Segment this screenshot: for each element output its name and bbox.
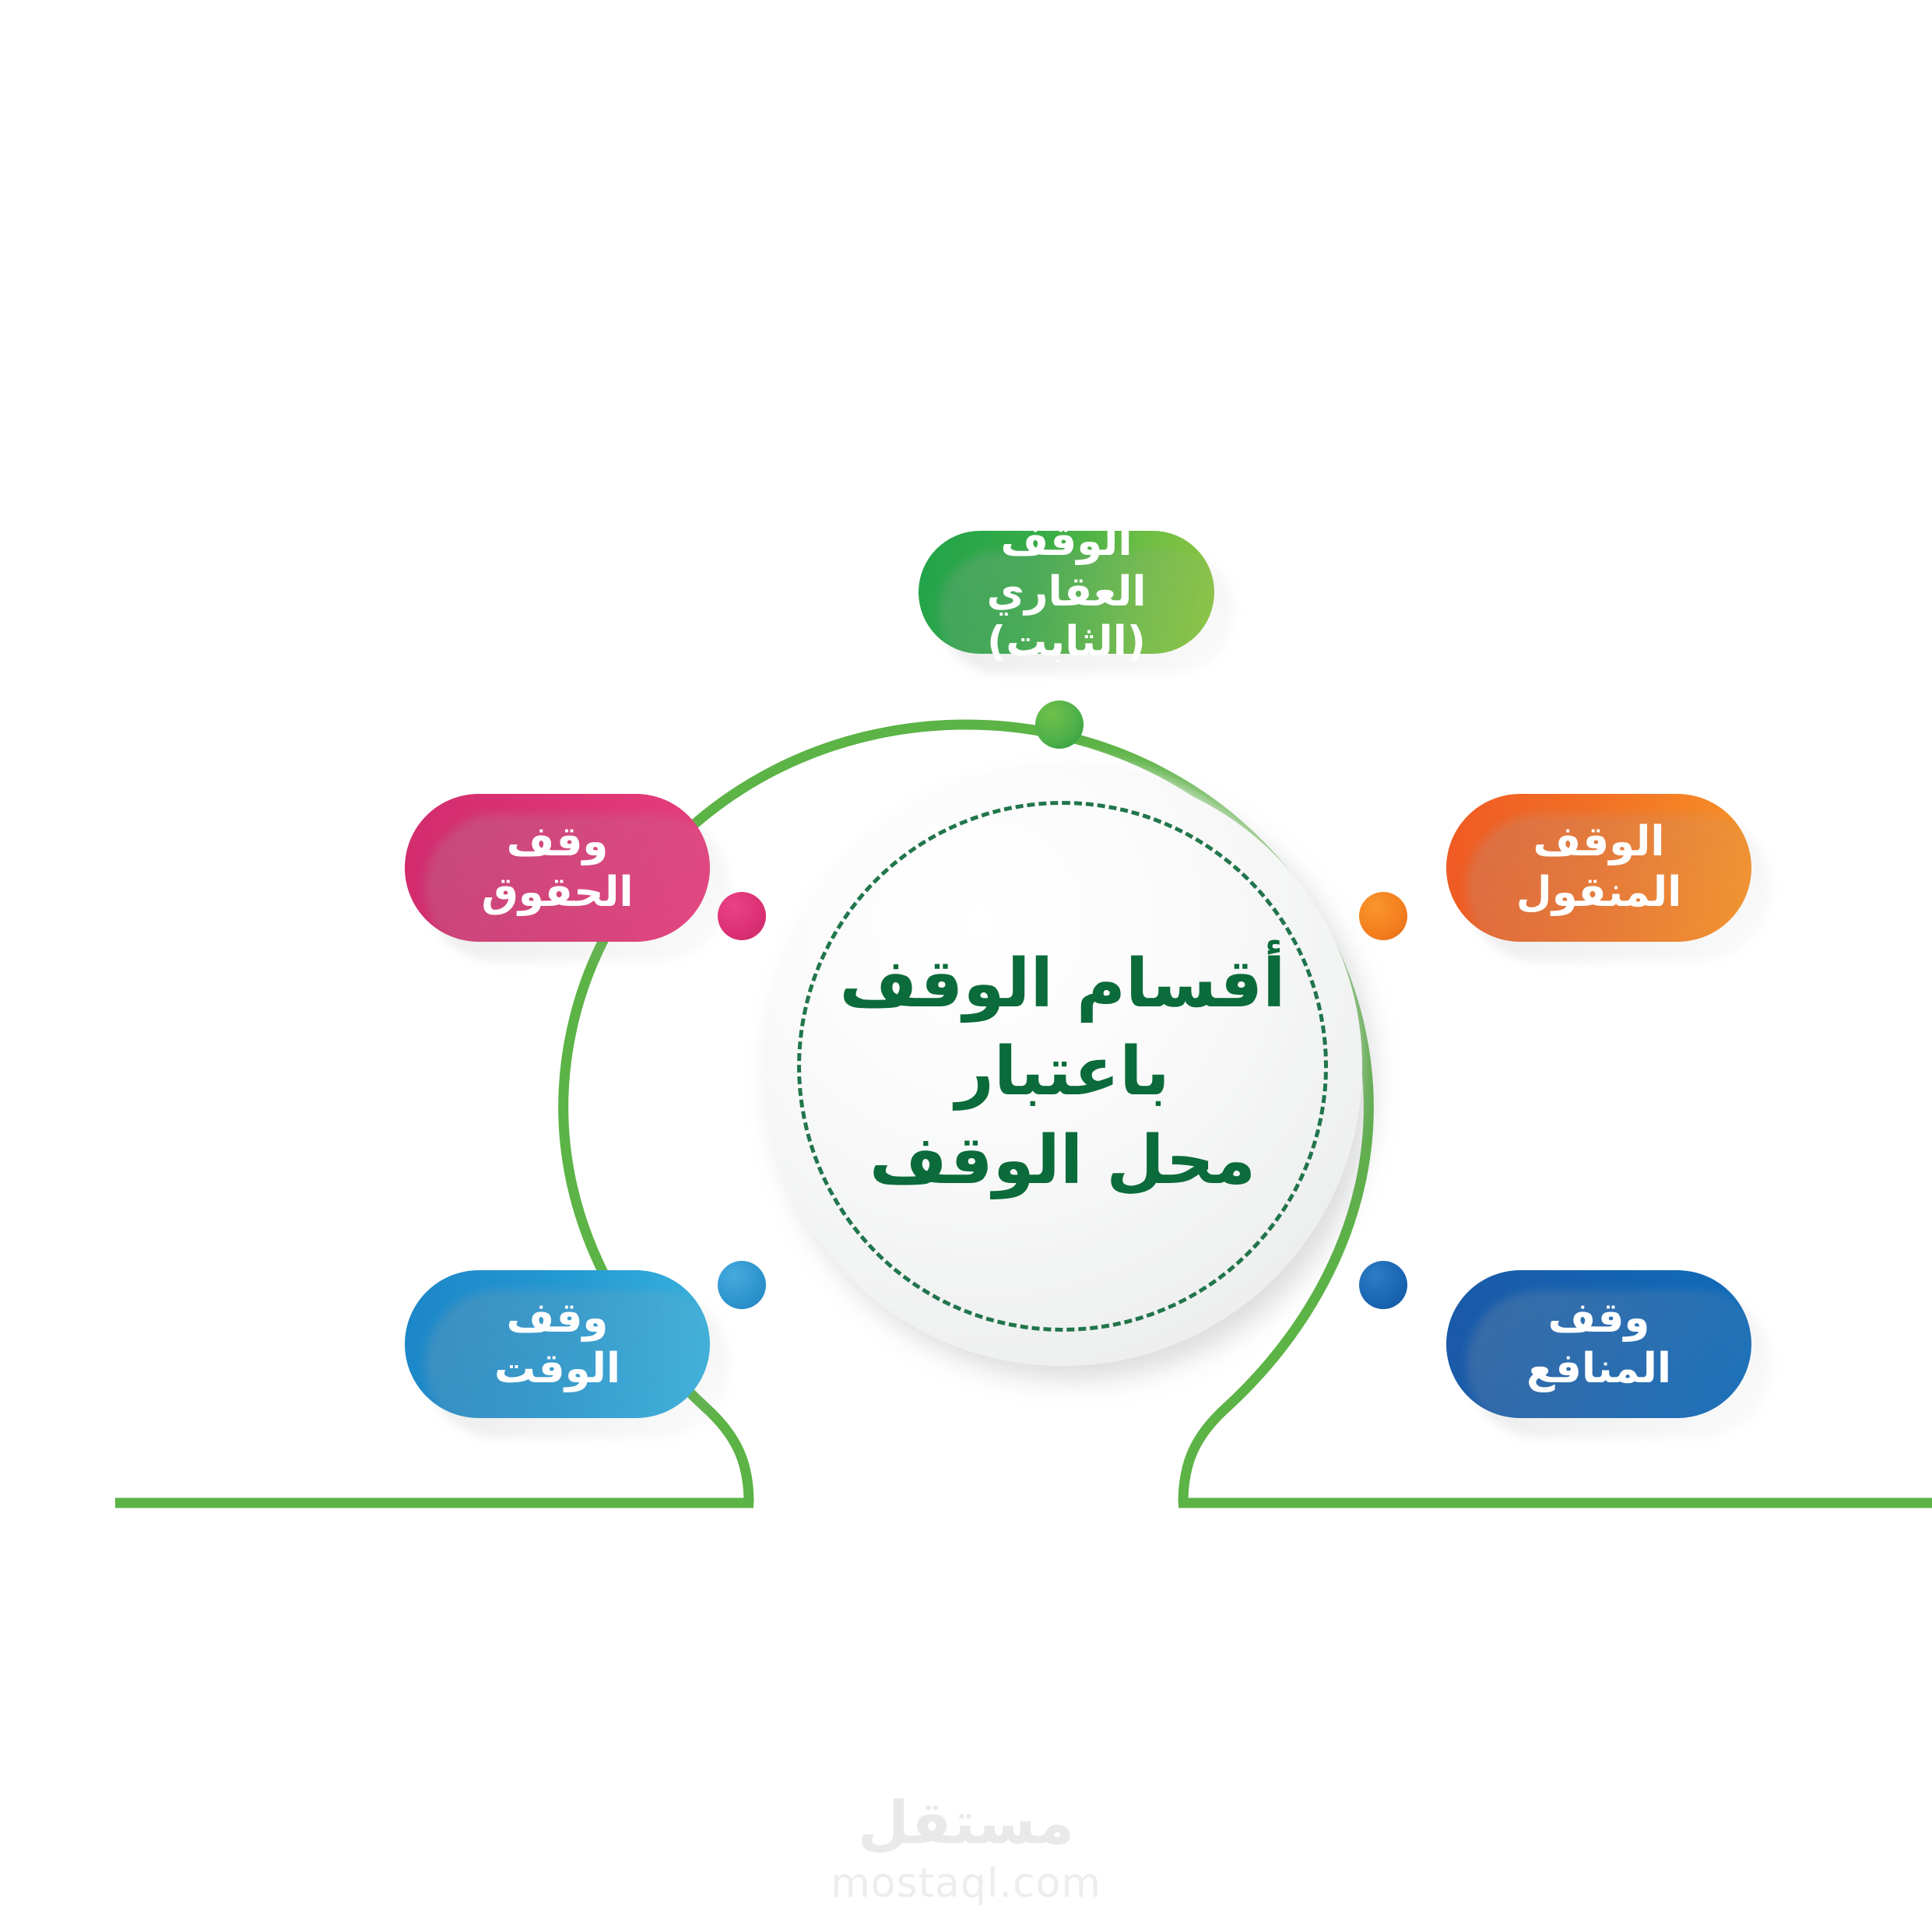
pill-label-line-2: الحقوق (481, 869, 633, 916)
infographic-canvas: أقسام الوقف باعتبار محل الوقف الوقف العق… (0, 0, 1932, 1931)
center-title-line-1: أقسام الوقف (840, 940, 1286, 1029)
category-pill-waqf-real-estate[interactable]: الوقف العقاري (الثابت) (919, 531, 1214, 654)
pill-label-line-2: (الثابت) (987, 618, 1146, 665)
connector-dot-waqf-real-estate (1035, 700, 1084, 749)
pill-label-line-1: وقف (507, 1294, 609, 1342)
pill-label-waqf-benefits: وقف المنافع (1526, 1294, 1671, 1394)
pill-label-line-1: وقف (1548, 1294, 1650, 1342)
watermark: مستقل mostaql.com (0, 1790, 1932, 1907)
pill-label-waqf-movable: الوقف المنقول (1516, 817, 1682, 918)
category-pill-waqf-benefits[interactable]: وقف المنافع (1446, 1270, 1751, 1418)
center-title-line-3: محل الوقف (869, 1117, 1256, 1206)
pill-label-line-2: المنقول (1516, 869, 1682, 916)
center-title-line-2: باعتبار (955, 1028, 1169, 1117)
connector-dot-waqf-time (718, 1261, 766, 1309)
pill-label-waqf-rights: وقف الحقوق (481, 817, 633, 918)
category-pill-waqf-time[interactable]: وقف الوقت (405, 1270, 710, 1418)
pill-label-line-1: الوقف العقاري (986, 518, 1146, 616)
center-hub: أقسام الوقف باعتبار محل الوقف (763, 767, 1362, 1366)
watermark-arabic-logo: مستقل (858, 1790, 1074, 1856)
center-hub-title: أقسام الوقف باعتبار محل الوقف (763, 767, 1362, 1366)
pill-label-waqf-real-estate: الوقف العقاري (الثابت) (939, 517, 1194, 668)
pill-label-line-2: المنافع (1526, 1345, 1671, 1392)
category-pill-waqf-movable[interactable]: الوقف المنقول (1446, 794, 1751, 942)
connector-dot-waqf-rights (718, 892, 766, 940)
connector-dot-waqf-benefits (1359, 1261, 1407, 1309)
category-pill-waqf-rights[interactable]: وقف الحقوق (405, 794, 710, 942)
connector-dot-waqf-movable (1359, 892, 1407, 940)
pill-label-line-1: الوقف (1533, 818, 1664, 865)
watermark-domain: mostaql.com (831, 1860, 1101, 1907)
pill-label-waqf-time: وقف الوقت (494, 1294, 620, 1394)
pill-label-line-2: الوقت (494, 1345, 620, 1392)
pill-label-line-1: وقف (507, 818, 609, 865)
